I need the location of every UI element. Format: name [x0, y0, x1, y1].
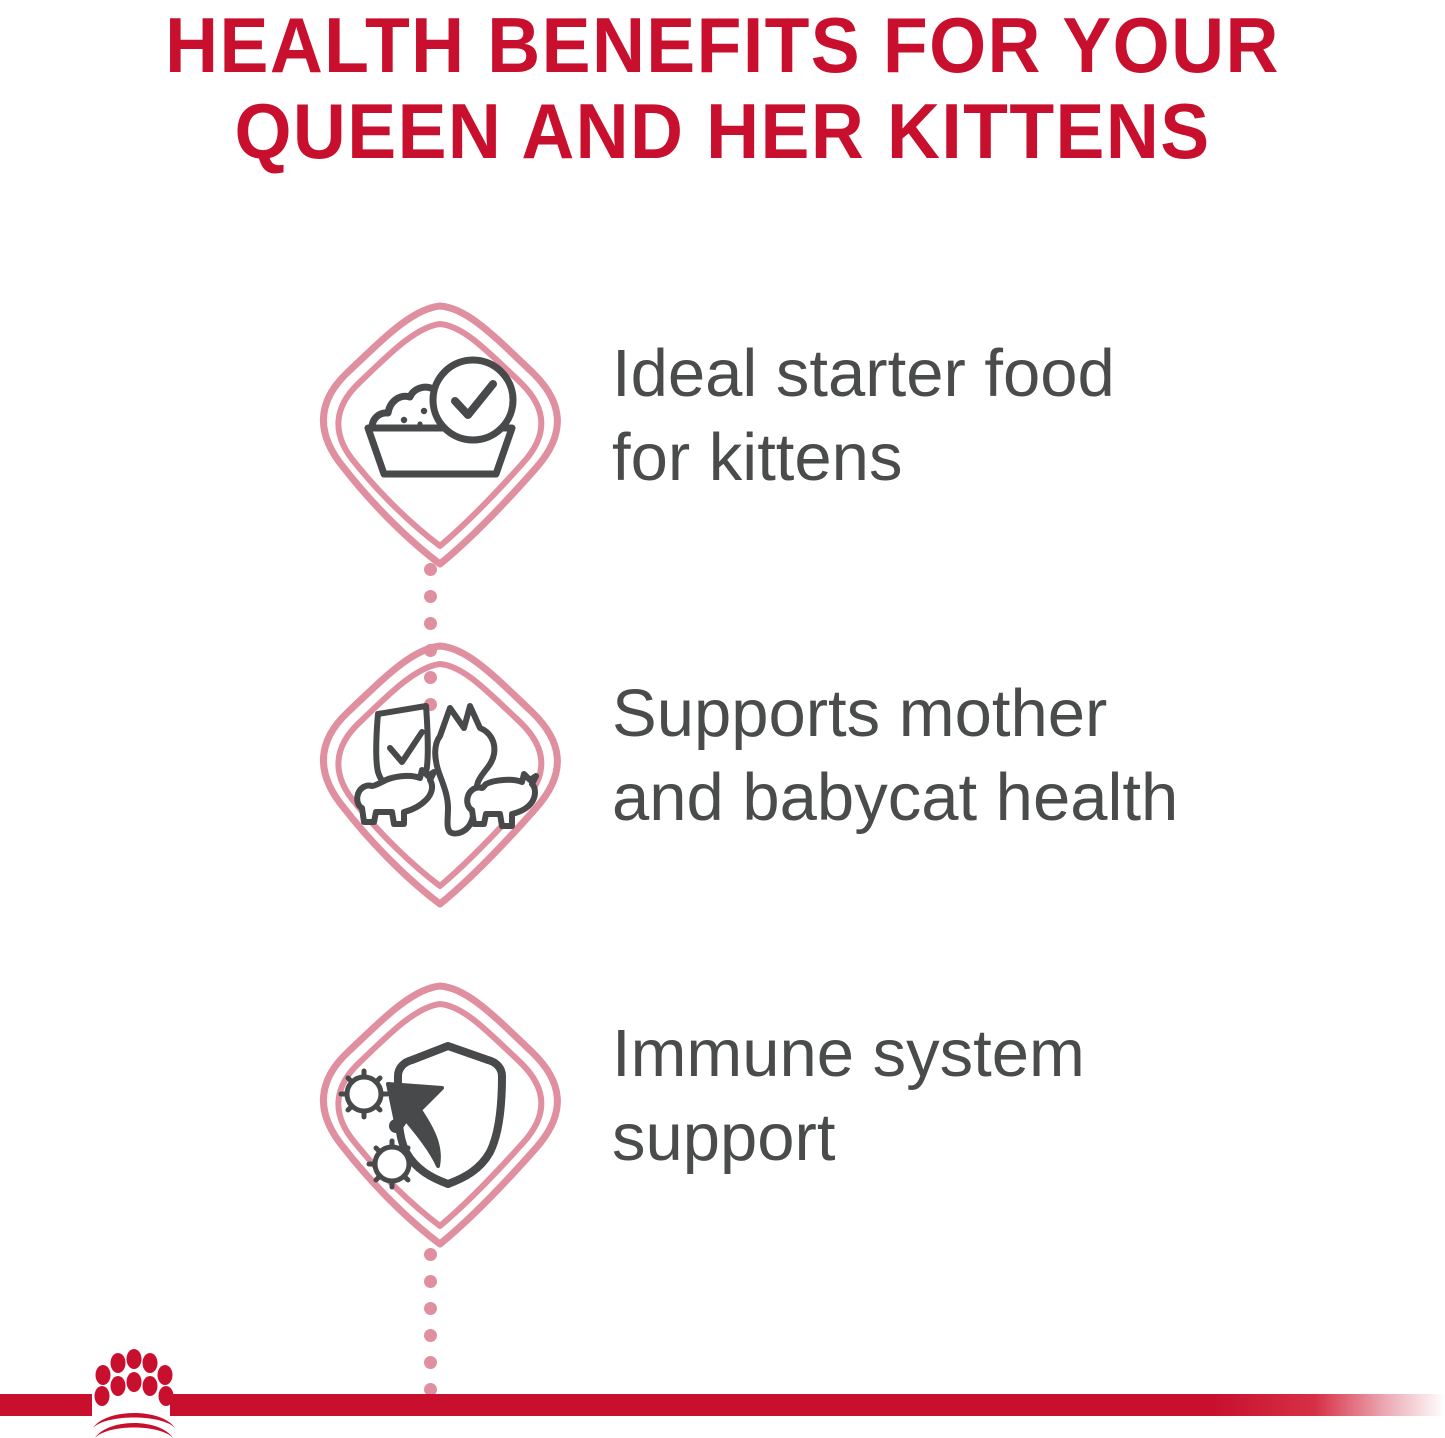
benefit-text-line-1: Supports mother — [612, 672, 1402, 756]
shield-germ-block-icon — [300, 976, 580, 1256]
food-bowl-check-icon — [300, 296, 580, 576]
royal-canin-crown-icon — [88, 1344, 180, 1438]
benefit-text: Supports mother and babycat health — [612, 672, 1402, 840]
connector-dot — [424, 563, 437, 576]
benefit-text: Immune system support — [612, 1012, 1402, 1180]
connector-dot — [424, 590, 437, 603]
benefit-text-line-2: support — [612, 1096, 1402, 1180]
shield-check-mother-cat-kittens-icon — [300, 636, 580, 916]
benefit-text-line-2: and babycat health — [612, 756, 1402, 840]
page-title: HEALTH BENEFITS FOR YOUR QUEEN AND HER K… — [0, 2, 1445, 174]
benefit-text-line-2: for kittens — [612, 416, 1402, 500]
footer — [0, 1328, 1445, 1438]
benefit-text-line-1: Immune system — [612, 1012, 1402, 1096]
benefit-text: Ideal starter food for kittens — [612, 332, 1402, 500]
benefit-text-line-1: Ideal starter food — [612, 332, 1402, 416]
page-title-line-2: QUEEN AND HER KITTENS — [43, 88, 1401, 174]
benefit-row: Ideal starter food for kittens — [0, 296, 1445, 636]
benefit-row: Supports mother and babycat health — [0, 636, 1445, 976]
connector-dot — [424, 617, 437, 630]
page-title-line-1: HEALTH BENEFITS FOR YOUR — [43, 2, 1401, 88]
footer-red-rule — [0, 1394, 1445, 1416]
benefit-row: Immune system support — [0, 976, 1445, 1316]
benefits-list: Ideal starter food for kittens — [0, 296, 1445, 1316]
